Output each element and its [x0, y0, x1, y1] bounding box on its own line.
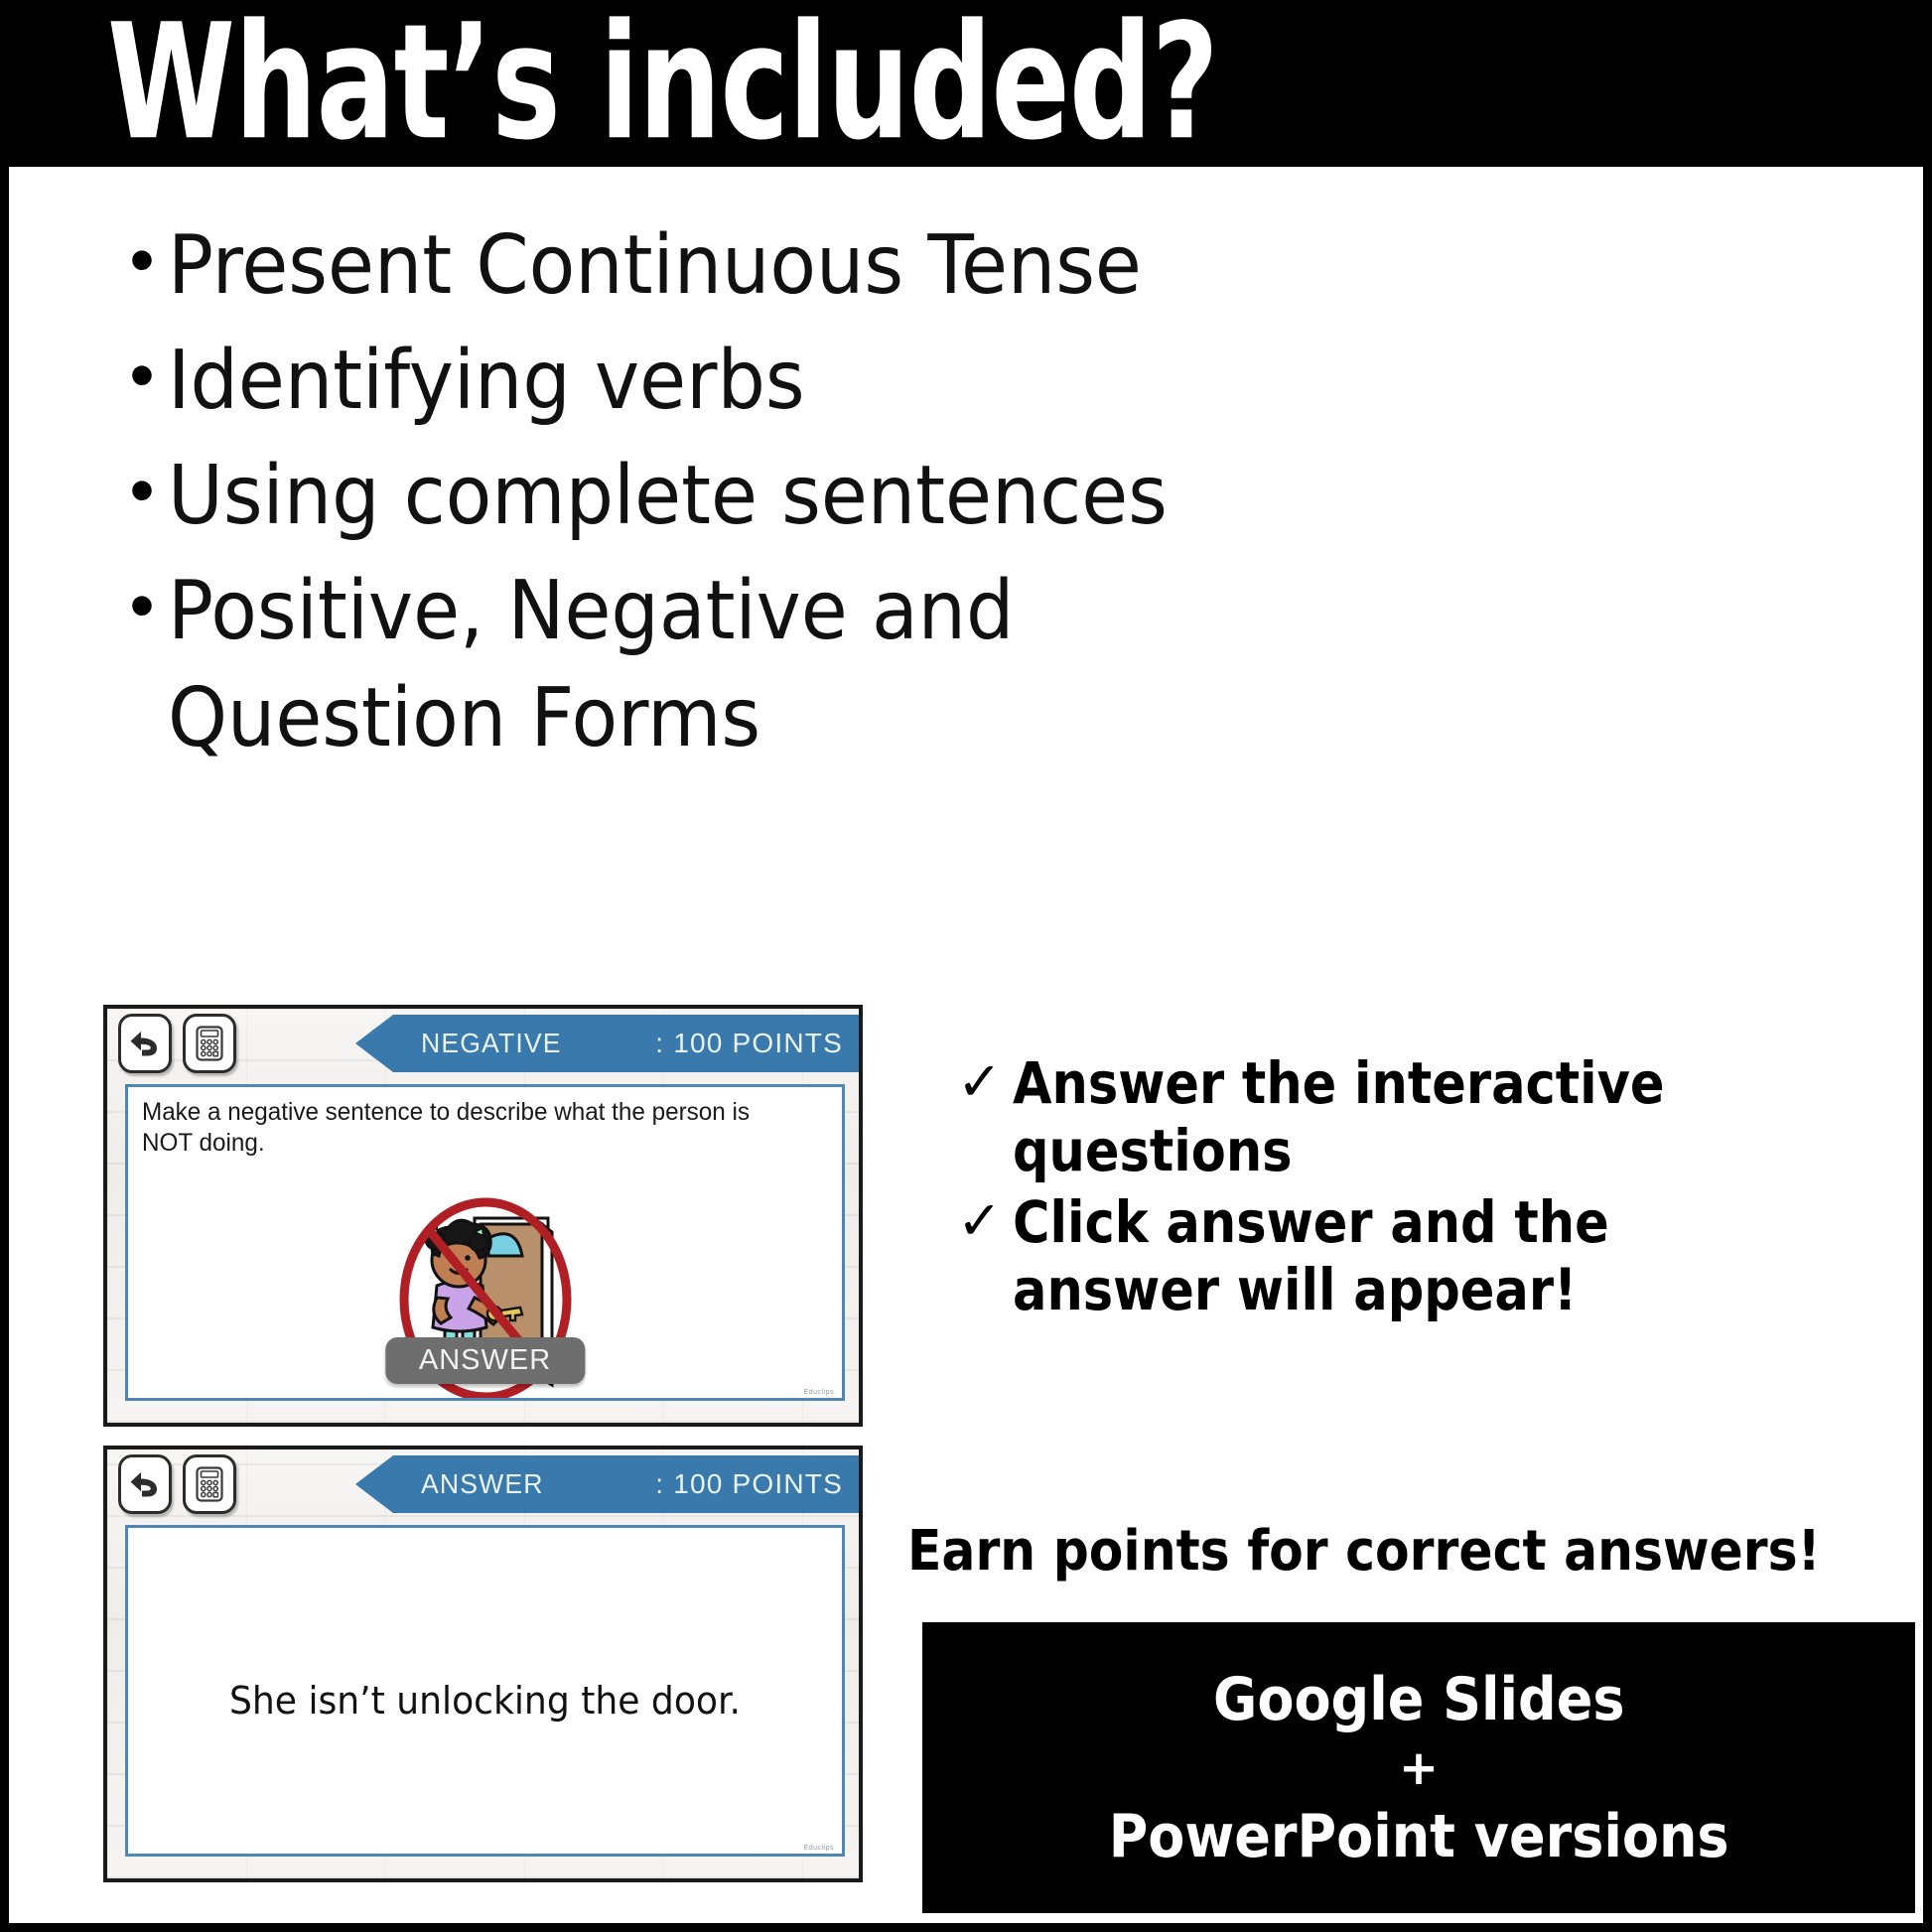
powerpoint-versions-label: PowerPoint versions [1109, 1798, 1729, 1875]
page-title: What’s included? [107, 4, 1218, 163]
question-card-header: NEGATIVE : 100 POINTS [107, 1009, 859, 1078]
check-icon: ✓ [957, 1188, 1013, 1254]
earn-points-text: Earn points for correct answers! [907, 1520, 1819, 1584]
formats-callout-box: Google Slides + PowerPoint versions [922, 1622, 1915, 1913]
question-prompt: Make a negative sentence to describe wha… [142, 1097, 821, 1159]
calculator-icon [196, 1466, 223, 1502]
list-item: • Positive, Negative and Question Forms [116, 558, 1605, 772]
list-item-label: Using complete sentences [168, 443, 1168, 550]
back-arrow-icon [128, 1029, 162, 1058]
calculator-button[interactable] [183, 1014, 236, 1073]
instructions-checklist: ✓ Answer the interactive questions ✓ Cli… [957, 1049, 1880, 1327]
ribbon-title: ANSWER [421, 1468, 544, 1500]
slide-page: What’s included? • Present Continuous Te… [0, 0, 1932, 1932]
title-banner: What’s included? [0, 0, 1932, 167]
list-item: ✓ Answer the interactive questions [957, 1049, 1880, 1184]
list-item-label: Click answer and the answer will appear! [1013, 1188, 1609, 1323]
card-watermark: Educlips [804, 1389, 834, 1396]
list-item-label: Answer the interactive questions [1013, 1049, 1665, 1184]
question-ribbon: NEGATIVE : 100 POINTS [355, 1015, 859, 1072]
ribbon-title: NEGATIVE [421, 1028, 562, 1059]
list-item-label: Present Continuous Tense [168, 212, 1142, 320]
list-item: • Identifying verbs [116, 328, 1605, 435]
ribbon-points: : 100 POINTS [655, 1028, 843, 1059]
list-item-label: Identifying verbs [168, 328, 805, 435]
bullet-dot-icon: • [116, 212, 168, 308]
back-arrow-icon [128, 1469, 162, 1499]
question-card-body: Make a negative sentence to describe wha… [125, 1084, 845, 1401]
list-item: ✓ Click answer and the answer will appea… [957, 1188, 1880, 1323]
answer-slide-card: ANSWER : 100 POINTS She isn’t unlocking … [103, 1446, 863, 1882]
back-arrow-button[interactable] [118, 1454, 172, 1514]
list-item-label: Positive, Negative and Question Forms [168, 558, 1014, 772]
answer-card-body: She isn’t unlocking the door. Educlips [125, 1525, 845, 1857]
google-slides-label: Google Slides [1213, 1661, 1624, 1738]
list-item: • Using complete sentences [116, 443, 1605, 550]
answer-card-header: ANSWER : 100 POINTS [107, 1449, 859, 1519]
bullet-dot-icon: • [116, 558, 168, 653]
answer-ribbon: ANSWER : 100 POINTS [355, 1455, 859, 1513]
calculator-button[interactable] [183, 1454, 236, 1514]
back-arrow-button[interactable] [118, 1014, 172, 1073]
answer-button[interactable]: ANSWER [385, 1337, 585, 1384]
card-watermark: Educlips [804, 1845, 834, 1852]
ribbon-points: : 100 POINTS [655, 1468, 843, 1500]
plus-sign: + [1399, 1738, 1439, 1798]
check-icon: ✓ [957, 1049, 1013, 1115]
bullet-dot-icon: • [116, 443, 168, 538]
question-slide-card: NEGATIVE : 100 POINTS Make a negative se… [103, 1005, 863, 1427]
calculator-icon [196, 1026, 223, 1061]
included-bullet-list: • Present Continuous Tense • Identifying… [116, 212, 1605, 780]
list-item: • Present Continuous Tense [116, 212, 1605, 320]
answer-sentence: She isn’t unlocking the door. [146, 1679, 824, 1723]
bullet-dot-icon: • [116, 328, 168, 423]
